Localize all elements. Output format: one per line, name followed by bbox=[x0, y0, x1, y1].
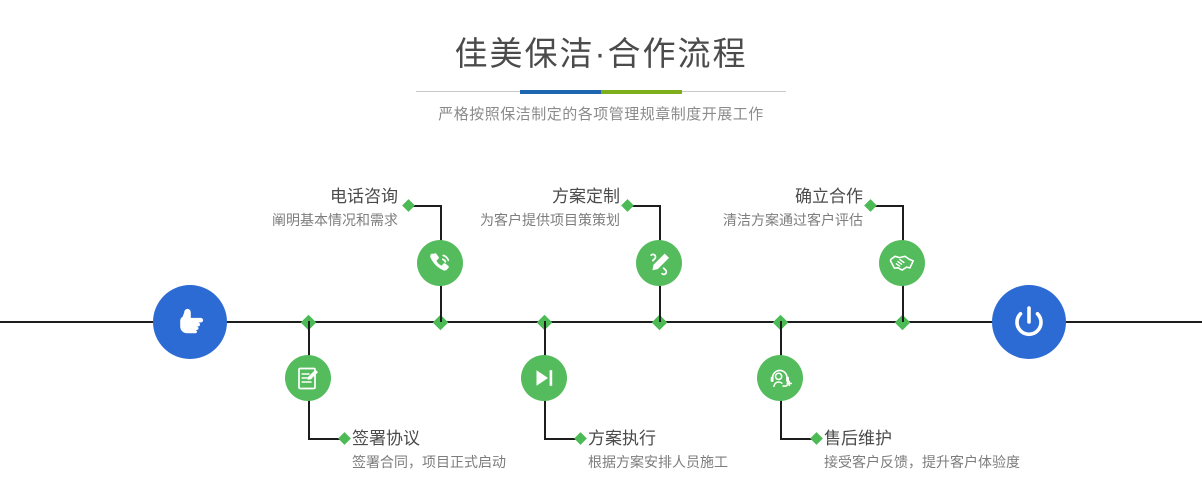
start-endpoint bbox=[153, 285, 227, 359]
document-edit-icon bbox=[295, 365, 322, 392]
support-add-icon bbox=[767, 365, 794, 392]
page-subtitle: 严格按照保洁制定的各项管理规章制度开展工作 bbox=[0, 105, 1202, 125]
step-title-6: 售后维护 bbox=[824, 428, 1020, 450]
step-desc-3: 为客户提供项目策策划 bbox=[340, 210, 620, 230]
label-marker-6 bbox=[810, 432, 823, 445]
header: 佳美保洁·合作流程 严格按照保洁制定的各项管理规章制度开展工作 bbox=[0, 32, 1202, 125]
label-marker-5 bbox=[864, 199, 877, 212]
step-node-1[interactable] bbox=[417, 240, 463, 286]
power-icon bbox=[1008, 301, 1050, 343]
step-title-4: 方案执行 bbox=[588, 428, 728, 450]
divider-segment-green bbox=[601, 90, 682, 94]
step-label-5: 确立合作 清洁方案通过客户评估 bbox=[585, 186, 863, 230]
step-desc-6: 接受客户反馈，提升客户体验度 bbox=[824, 452, 1020, 472]
page-title: 佳美保洁·合作流程 bbox=[0, 32, 1202, 76]
step-label-6: 售后维护 接受客户反馈，提升客户体验度 bbox=[824, 428, 1020, 472]
phone-call-icon bbox=[426, 249, 454, 277]
step-node-2[interactable] bbox=[285, 355, 331, 401]
step-label-4: 方案执行 根据方案安排人员施工 bbox=[588, 428, 728, 472]
label-marker-2 bbox=[338, 432, 351, 445]
step-title-5: 确立合作 bbox=[585, 186, 863, 208]
step-desc-5: 清洁方案通过客户评估 bbox=[585, 210, 863, 230]
pencil-ruler-icon bbox=[646, 250, 673, 277]
step-node-5[interactable] bbox=[879, 240, 925, 286]
label-marker-4 bbox=[574, 432, 587, 445]
divider-segment-blue bbox=[520, 90, 601, 94]
play-skip-icon bbox=[531, 365, 557, 391]
step-node-6[interactable] bbox=[757, 355, 803, 401]
step-title-2: 签署协议 bbox=[352, 428, 506, 450]
flow-diagram-page: 佳美保洁·合作流程 严格按照保洁制定的各项管理规章制度开展工作 bbox=[0, 0, 1202, 502]
step-desc-4: 根据方案安排人员施工 bbox=[588, 452, 728, 472]
title-divider bbox=[416, 89, 786, 95]
handshake-icon bbox=[888, 249, 916, 277]
pointing-hand-icon bbox=[170, 302, 210, 342]
step-node-4[interactable] bbox=[521, 355, 567, 401]
step-node-3[interactable] bbox=[636, 240, 682, 286]
step-desc-2: 签署合同，项目正式启动 bbox=[352, 452, 506, 472]
step-label-2: 签署协议 签署合同，项目正式启动 bbox=[352, 428, 506, 472]
step-title-3: 方案定制 bbox=[340, 186, 620, 208]
step-label-3: 方案定制 为客户提供项目策策划 bbox=[340, 186, 620, 230]
end-endpoint bbox=[992, 285, 1066, 359]
